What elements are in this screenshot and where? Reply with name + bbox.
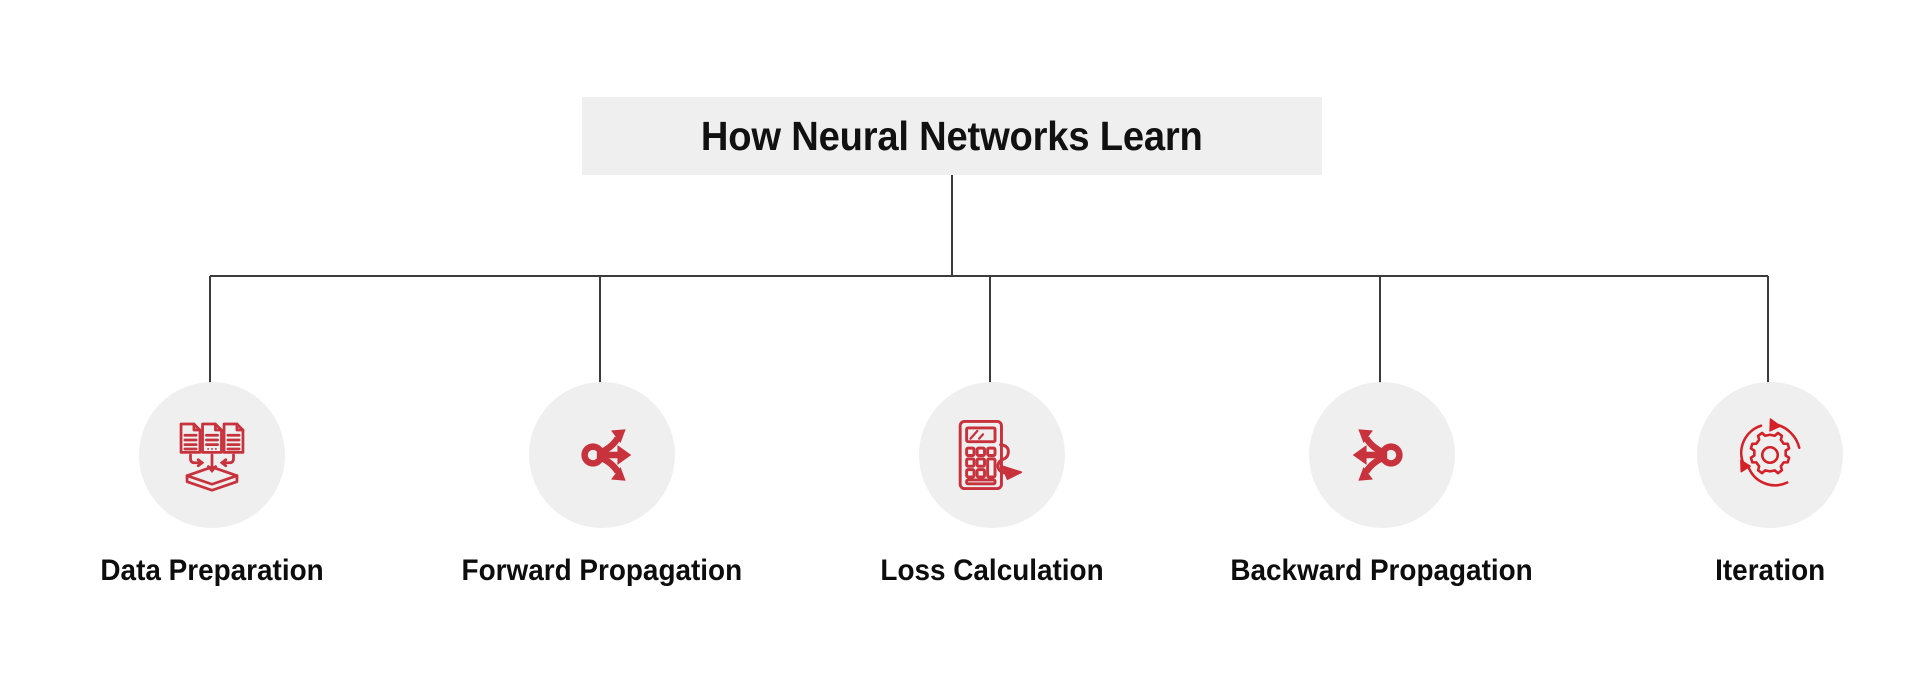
gear-refresh-cycle-icon bbox=[1727, 412, 1813, 498]
node-label: Data Preparation bbox=[100, 554, 323, 588]
page-title: How Neural Networks Learn bbox=[701, 113, 1203, 160]
node-forward-propagation[interactable]: Forward Propagation bbox=[472, 382, 732, 588]
calculator-down-arrow-icon bbox=[949, 412, 1035, 498]
node-data-preparation[interactable]: Data Preparation bbox=[82, 382, 342, 588]
backward-branching-arrows-icon bbox=[1339, 412, 1425, 498]
node-label: Iteration bbox=[1715, 554, 1825, 588]
node-label: Loss Calculation bbox=[880, 554, 1103, 588]
diagram-title-box: How Neural Networks Learn bbox=[582, 97, 1322, 175]
documents-into-tray-icon bbox=[169, 412, 255, 498]
node-icon-circle bbox=[139, 382, 285, 528]
node-icon-circle bbox=[1697, 382, 1843, 528]
node-label: Backward Propagation bbox=[1231, 554, 1533, 588]
forward-branching-arrows-icon bbox=[559, 412, 645, 498]
diagram-root: How Neural Networks Learn bbox=[0, 0, 1920, 700]
node-loss-calculation[interactable]: Loss Calculation bbox=[862, 382, 1122, 588]
node-iteration[interactable]: Iteration bbox=[1640, 382, 1900, 588]
node-backward-propagation[interactable]: Backward Propagation bbox=[1252, 382, 1512, 588]
node-icon-circle bbox=[1309, 382, 1455, 528]
node-icon-circle bbox=[529, 382, 675, 528]
node-icon-circle bbox=[919, 382, 1065, 528]
node-label: Forward Propagation bbox=[462, 554, 743, 588]
